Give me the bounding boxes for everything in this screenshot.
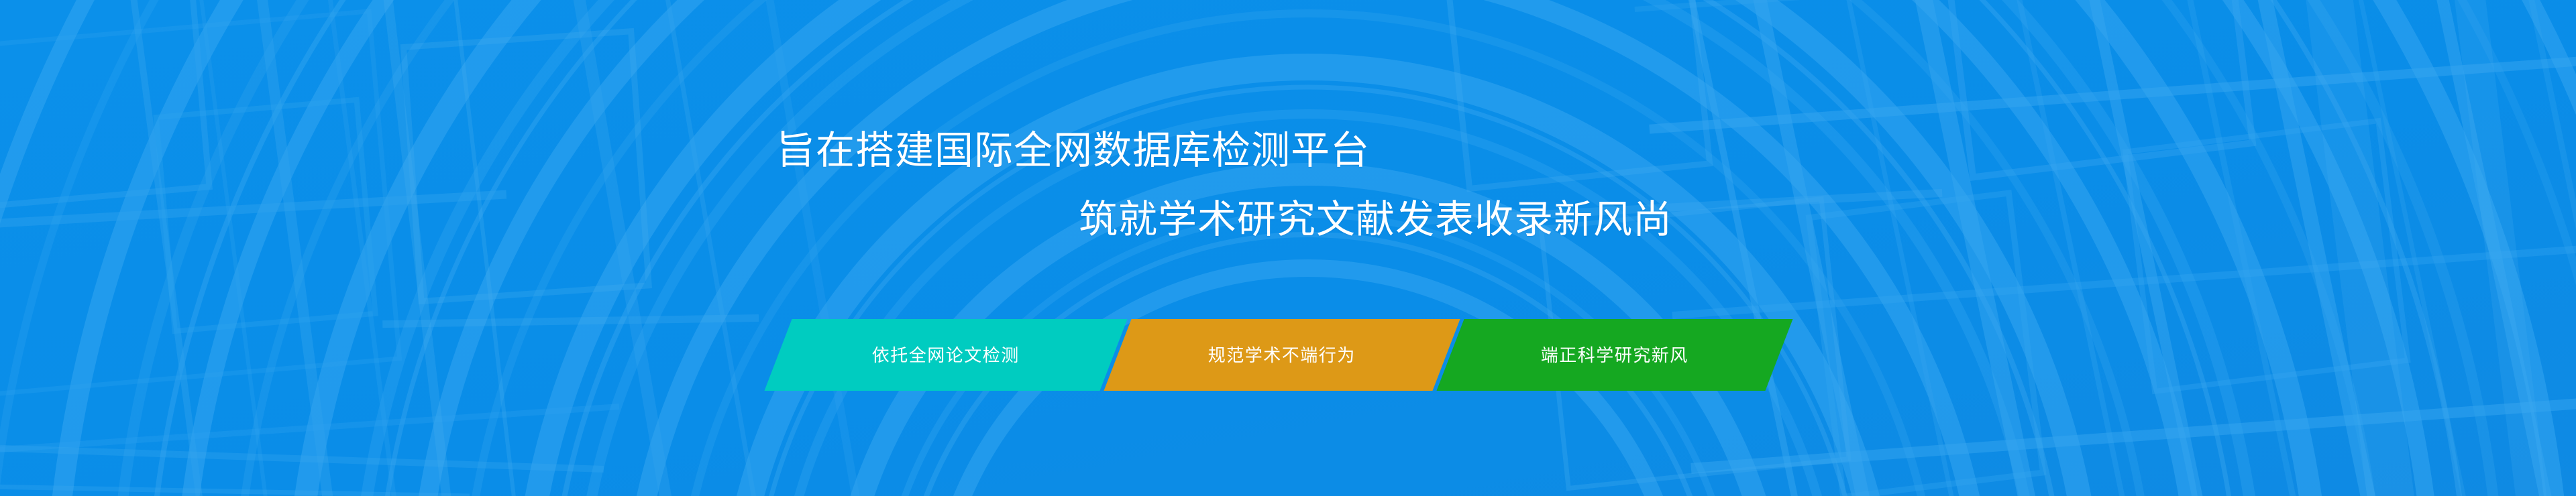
feature-tag-2[interactable]: 规范学术不端行为 [1104,319,1460,391]
feature-tag-2-label: 规范学术不端行为 [1204,347,1360,364]
headline-line-2: 筑就学术研究文献发表收录新风尚 [0,200,1825,239]
feature-tag-1-label: 依托全网论文检测 [868,347,1024,364]
feature-tag-3-label: 端正科学研究新风 [1537,347,1693,364]
headline-block: 旨在搭建国际全网数据库检测平台 筑就学术研究文献发表收录新风尚 [0,131,1825,239]
feature-tag-strip: 依托全网论文检测 规范学术不端行为 端正科学研究新风 [778,319,1779,391]
feature-tag-1[interactable]: 依托全网论文检测 [764,319,1127,391]
background-decoration [0,0,2576,496]
headline-line-1: 旨在搭建国际全网数据库检测平台 [0,131,1825,170]
feature-tag-3[interactable]: 端正科学研究新风 [1436,319,1792,391]
promo-banner: 旨在搭建国际全网数据库检测平台 筑就学术研究文献发表收录新风尚 依托全网论文检测… [0,0,2576,496]
background-pattern-svg [0,0,2576,496]
